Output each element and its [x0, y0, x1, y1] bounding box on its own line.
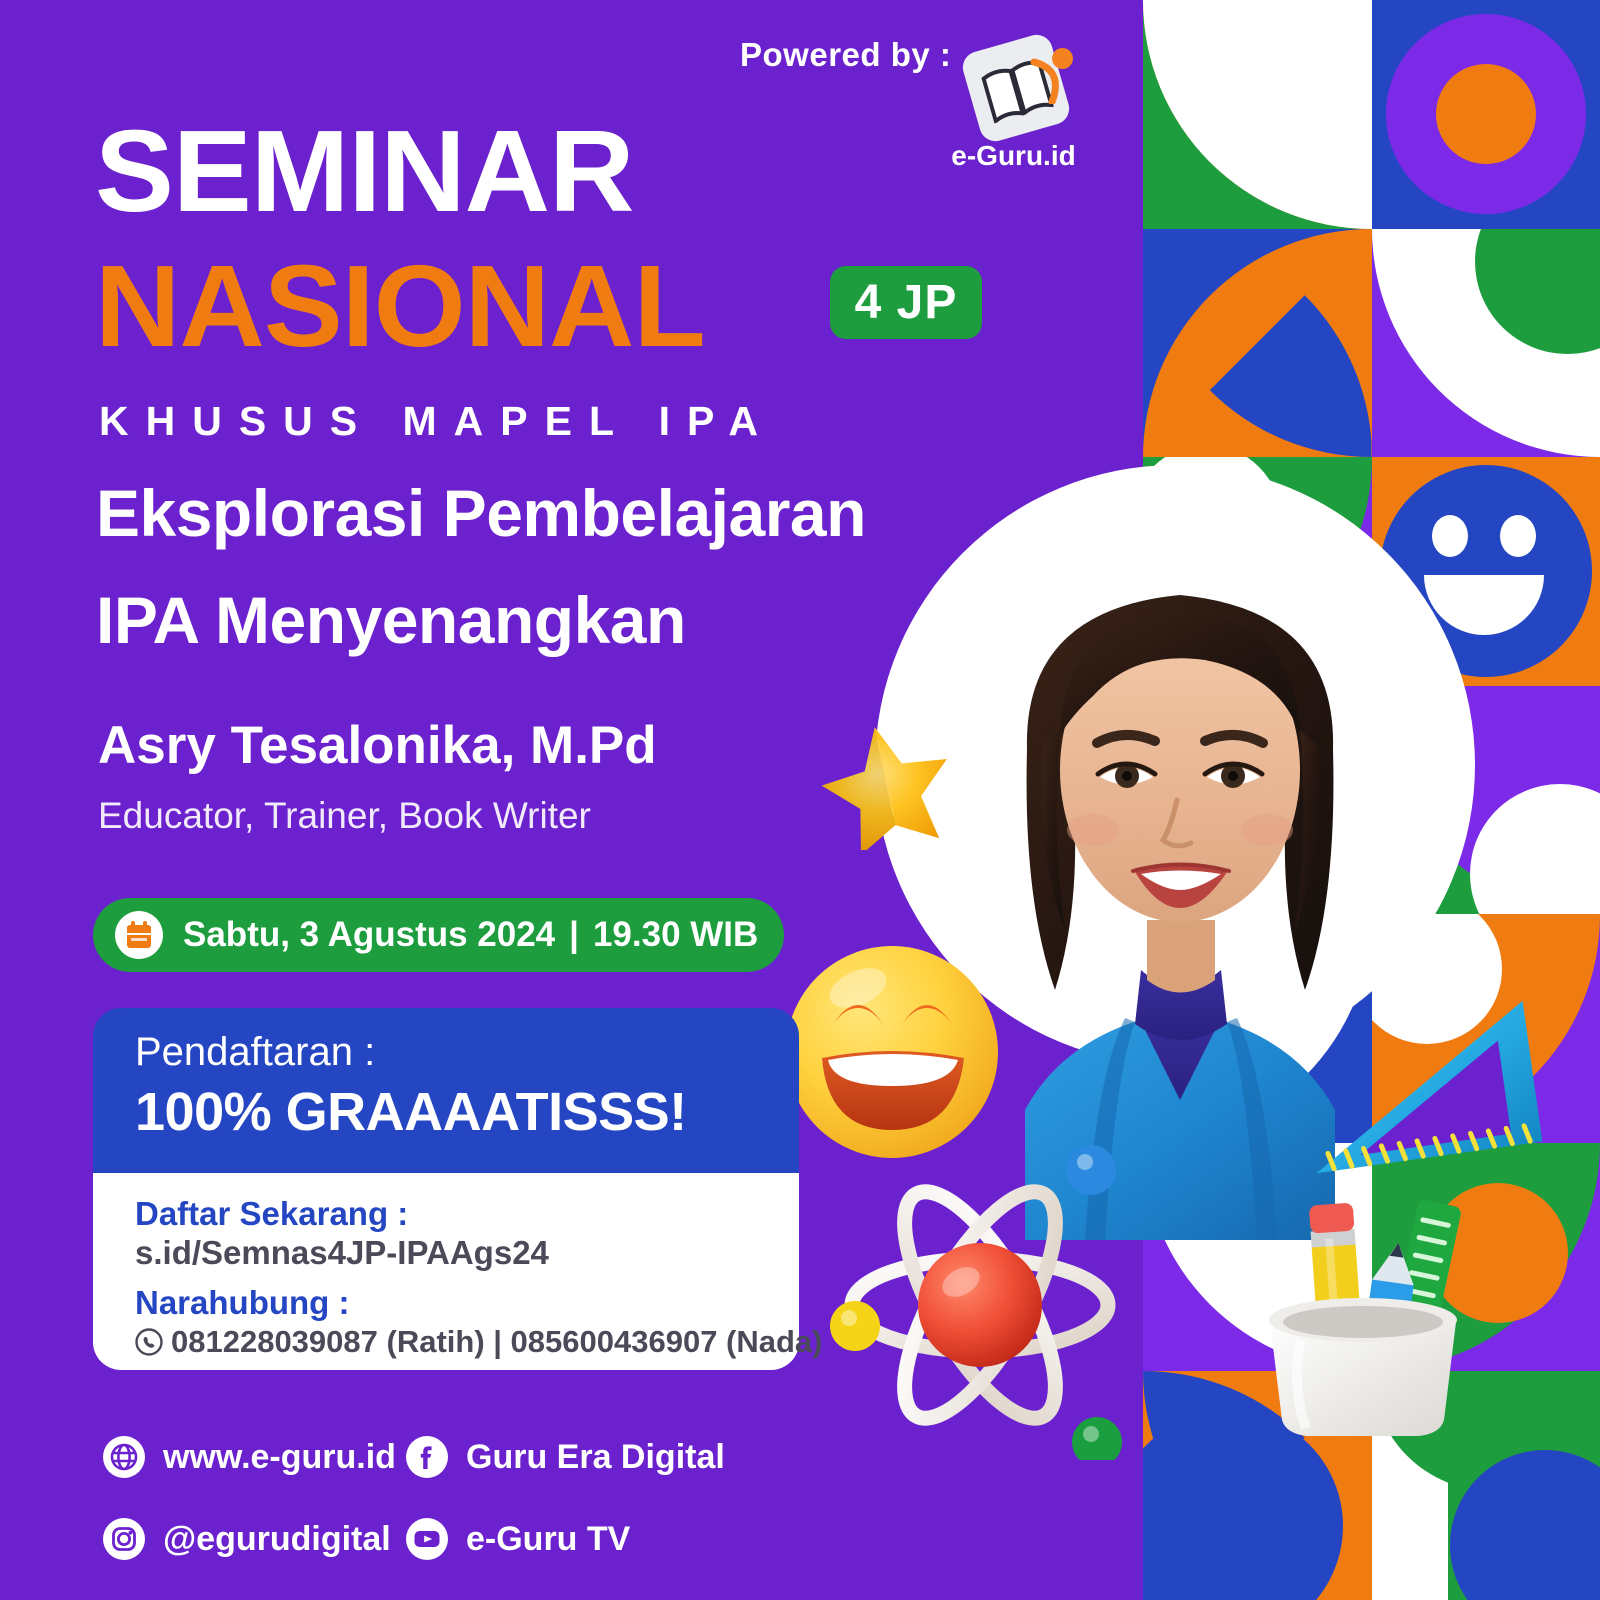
- social-facebook-label: Guru Era Digital: [466, 1438, 725, 1477]
- register-now-label: Daftar Sekarang :: [135, 1195, 799, 1233]
- whatsapp-icon: [135, 1328, 163, 1356]
- logo-dot: [1052, 48, 1073, 69]
- social-facebook[interactable]: Guru Era Digital: [406, 1436, 725, 1478]
- register-link[interactable]: s.id/Semnas4JP-IPAAgs24: [135, 1234, 799, 1272]
- contact-phone-numbers: 081228039087 (Ratih) | 085600436907 (Nad…: [171, 1324, 823, 1360]
- social-instagram[interactable]: @egurudigital: [103, 1518, 391, 1560]
- speaker-name: Asry Tesalonika, M.Pd: [98, 715, 657, 776]
- star-emoji: [820, 720, 955, 850]
- social-instagram-label: @egurudigital: [163, 1520, 391, 1559]
- powered-by-label: Powered by :: [740, 36, 951, 74]
- triangle-ruler-icon: [1290, 990, 1550, 1190]
- contact-card: Daftar Sekarang : s.id/Semnas4JP-IPAAgs2…: [93, 1173, 799, 1370]
- social-website[interactable]: www.e-guru.id: [103, 1436, 396, 1478]
- pattern-cell: [1372, 229, 1600, 458]
- seminar-poster: Powered by : e-Guru.id SEMINAR NASIONAL …: [0, 0, 1600, 1600]
- subtitle-khusus-mapel: KHUSUS MAPEL IPA: [99, 398, 775, 445]
- facebook-icon: [406, 1436, 448, 1478]
- social-youtube[interactable]: e-Guru TV: [406, 1518, 630, 1560]
- pattern-cell: [1143, 229, 1372, 458]
- title-nasional: NASIONAL: [95, 248, 705, 364]
- speaker-role: Educator, Trainer, Book Writer: [98, 795, 591, 837]
- calendar-icon-wrap: [115, 911, 163, 959]
- instagram-icon: [103, 1518, 145, 1560]
- logo-name: e-Guru.id: [946, 140, 1081, 172]
- atom-icon: [825, 1130, 1135, 1460]
- contact-phones-row: 081228039087 (Ratih) | 085600436907 (Nad…: [135, 1324, 799, 1360]
- youtube-icon: [406, 1518, 448, 1560]
- registration-price: 100% GRAAAATISSS!: [135, 1081, 799, 1143]
- topic-line-1: Eksplorasi Pembelajaran: [96, 478, 866, 549]
- pattern-cell: [1372, 0, 1600, 229]
- schedule-separator: |: [555, 915, 593, 955]
- pencil-cup-icon: [1230, 1190, 1500, 1440]
- schedule-date: Sabtu, 3 Agustus 2024: [183, 915, 555, 955]
- eguru-logo[interactable]: e-Guru.id: [952, 36, 1072, 176]
- pattern-cell: [1143, 0, 1372, 229]
- social-youtube-label: e-Guru TV: [466, 1520, 630, 1559]
- contact-person-label: Narahubung :: [135, 1284, 799, 1322]
- speaker-photo-area: [790, 430, 1600, 1600]
- globe-icon: [103, 1436, 145, 1478]
- calendar-icon: [126, 921, 152, 949]
- registration-card: Pendaftaran : 100% GRAAAATISSS!: [93, 1008, 799, 1178]
- schedule-badge: Sabtu, 3 Agustus 2024 | 19.30 WIB: [93, 898, 784, 972]
- title-seminar: SEMINAR: [95, 113, 633, 229]
- topic-line-2: IPA Menyenangkan: [96, 585, 686, 656]
- schedule-time: 19.30 WIB: [593, 915, 758, 955]
- jp-badge: 4 JP: [830, 266, 982, 339]
- social-website-label: www.e-guru.id: [163, 1438, 396, 1477]
- registration-label: Pendaftaran :: [135, 1030, 799, 1075]
